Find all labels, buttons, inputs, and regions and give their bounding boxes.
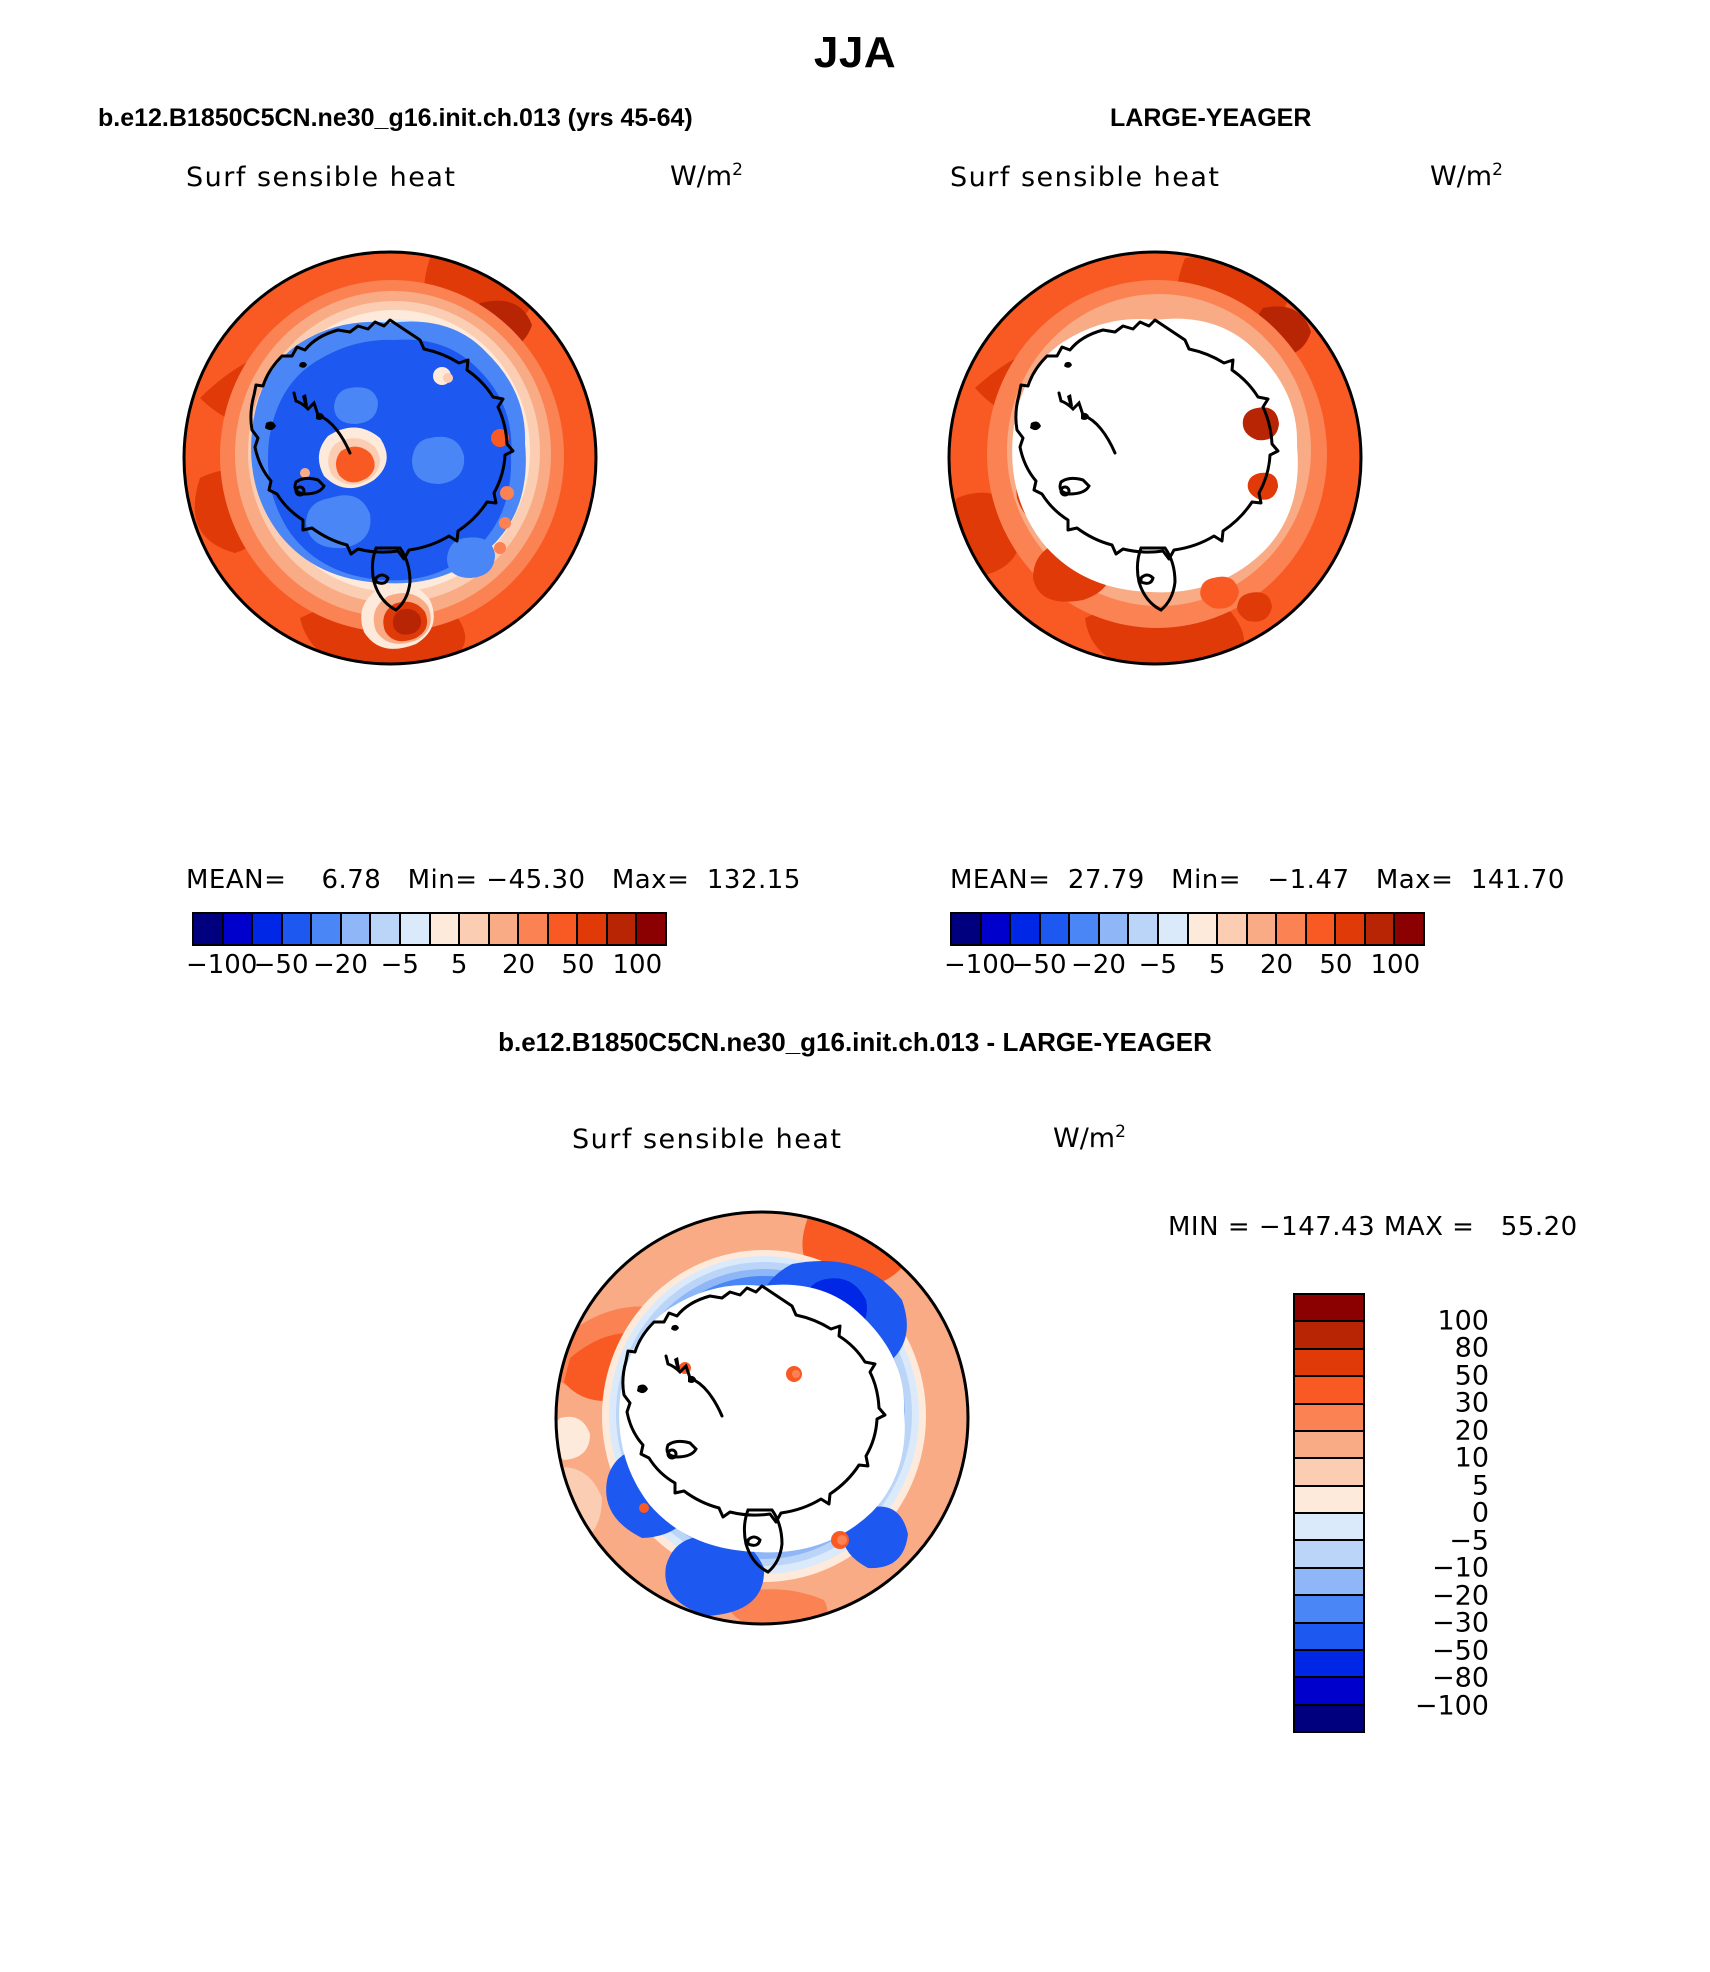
diff-colorbar-tick-label: −5 (1371, 1525, 1489, 1556)
left-panel-title: b.e12.B1850C5CN.ne30_g16.init.ch.013 (yr… (98, 104, 693, 133)
colorbar-cell-15 (637, 914, 665, 944)
diff-colorbar-cell-3 (1295, 1377, 1363, 1404)
diff-colorbar-tick-label: −10 (1371, 1553, 1489, 1584)
right-variable-label: Surf sensible heat (950, 162, 1221, 193)
colorbar-cell-6 (1129, 914, 1159, 944)
colorbar-tick-label: 50 (561, 950, 594, 980)
colorbar-tick-label: 20 (502, 950, 535, 980)
diff-colorbar-cell-12 (1295, 1624, 1363, 1651)
colorbar-cell-6 (371, 914, 401, 944)
colorbar-cell-2 (253, 914, 283, 944)
diff-colorbar-cell-5 (1295, 1432, 1363, 1459)
colorbar-tick-label: −50 (254, 950, 309, 980)
colorbar-tick-label: 5 (451, 950, 468, 980)
colorbar-cell-0 (194, 914, 224, 944)
colorbar-cell-8 (1189, 914, 1219, 944)
colorbar-tick-label: −20 (313, 950, 368, 980)
colorbar-cell-14 (1366, 914, 1396, 944)
season-title: JJA (0, 28, 1710, 78)
colorbar-cell-2 (1011, 914, 1041, 944)
diff-colorbar-tick-label: 50 (1371, 1360, 1489, 1391)
diff-colorbar-tick-label: 10 (1371, 1443, 1489, 1474)
left-colorbar-cells (192, 912, 667, 946)
diff-colorbar-cell-13 (1295, 1651, 1363, 1678)
diff-colorbar-cell-15 (1295, 1706, 1363, 1731)
colorbar-cell-3 (1041, 914, 1071, 944)
colorbar-tick-label: 20 (1260, 950, 1293, 980)
colorbar-tick-label: −5 (1139, 950, 1177, 980)
diff-colorbar-tick-label: 0 (1371, 1498, 1489, 1529)
colorbar-cell-4 (312, 914, 342, 944)
colorbar-cell-5 (1100, 914, 1130, 944)
colorbar-cell-12 (1307, 914, 1337, 944)
diff-colorbar-cell-6 (1295, 1459, 1363, 1486)
colorbar-cell-13 (578, 914, 608, 944)
diff-colorbar-tick-label: 20 (1371, 1415, 1489, 1446)
diff-colorbar-tick-label: −100 (1371, 1690, 1489, 1721)
diff-colorbar-ticks: 100805030201050−5−10−20−30−50−80−100 (1371, 1293, 1501, 1733)
diff-variable-label: Surf sensible heat (572, 1124, 843, 1155)
colorbar-cell-1 (982, 914, 1012, 944)
colorbar-cell-13 (1336, 914, 1366, 944)
colorbar-cell-7 (1159, 914, 1189, 944)
colorbar-cell-15 (1395, 914, 1423, 944)
diff-colorbar-cell-1 (1295, 1322, 1363, 1349)
diff-colorbar-cells (1293, 1293, 1365, 1733)
left-colorbar: −100−50−20−552050100 (192, 912, 667, 990)
diff-colorbar-tick-label: −80 (1371, 1663, 1489, 1694)
colorbar-tick-label: −5 (381, 950, 419, 980)
colorbar-tick-label: 100 (1370, 950, 1420, 980)
colorbar-tick-label: 5 (1209, 950, 1226, 980)
colorbar-cell-8 (431, 914, 461, 944)
colorbar-tick-label: −100 (944, 950, 1015, 980)
left-polar-map (180, 248, 600, 668)
diff-colorbar-cell-2 (1295, 1350, 1363, 1377)
diff-colorbar-cell-0 (1295, 1295, 1363, 1322)
colorbar-cell-12 (549, 914, 579, 944)
right-colorbar: −100−50−20−552050100 (950, 912, 1425, 990)
colorbar-cell-10 (1248, 914, 1278, 944)
diff-colorbar-cell-10 (1295, 1569, 1363, 1596)
right-unit-label: W/m2 (1430, 160, 1503, 192)
diff-colorbar-cell-7 (1295, 1487, 1363, 1514)
left-variable-label: Surf sensible heat (186, 162, 457, 193)
left-unit-label: W/m2 (670, 160, 743, 192)
colorbar-cell-10 (490, 914, 520, 944)
colorbar-cell-4 (1070, 914, 1100, 944)
diff-colorbar-cell-9 (1295, 1541, 1363, 1568)
diff-colorbar-tick-label: 80 (1371, 1333, 1489, 1364)
diff-polar-map (552, 1208, 972, 1628)
diff-colorbar-tick-label: 100 (1371, 1305, 1489, 1336)
diff-minmax-line: MIN = −147.43 MAX = 55.20 (1168, 1212, 1578, 1242)
colorbar-cell-11 (519, 914, 549, 944)
colorbar-tick-label: 50 (1319, 950, 1352, 980)
colorbar-cell-5 (342, 914, 372, 944)
colorbar-tick-label: −50 (1012, 950, 1067, 980)
colorbar-cell-1 (224, 914, 254, 944)
diff-colorbar-cell-8 (1295, 1514, 1363, 1541)
colorbar-tick-label: −20 (1071, 950, 1126, 980)
colorbar-cell-9 (460, 914, 490, 944)
left-stats-line: MEAN= 6.78 Min= −45.30 Max= 132.15 (186, 865, 801, 895)
diff-colorbar-tick-label: −50 (1371, 1635, 1489, 1666)
diff-colorbar-tick-label: −30 (1371, 1608, 1489, 1639)
diff-unit-label: W/m2 (1053, 1122, 1126, 1154)
colorbar-cell-0 (952, 914, 982, 944)
right-panel-title: LARGE-YEAGER (1110, 104, 1311, 133)
diff-colorbar-tick-label: 30 (1371, 1388, 1489, 1419)
right-colorbar-ticks: −100−50−20−552050100 (950, 950, 1425, 990)
diff-colorbar-cell-11 (1295, 1596, 1363, 1623)
colorbar-cell-11 (1277, 914, 1307, 944)
colorbar-cell-9 (1218, 914, 1248, 944)
right-colorbar-cells (950, 912, 1425, 946)
diff-colorbar-cell-14 (1295, 1678, 1363, 1705)
diff-panel-title: b.e12.B1850C5CN.ne30_g16.init.ch.013 - L… (0, 1027, 1710, 1058)
left-colorbar-ticks: −100−50−20−552050100 (192, 950, 667, 990)
colorbar-cell-3 (283, 914, 313, 944)
right-stats-line: MEAN= 27.79 Min= −1.47 Max= 141.70 (950, 865, 1565, 895)
colorbar-cell-7 (401, 914, 431, 944)
diff-colorbar-tick-label: 5 (1371, 1470, 1489, 1501)
colorbar-cell-14 (608, 914, 638, 944)
diff-colorbar-tick-label: −20 (1371, 1580, 1489, 1611)
right-polar-map (945, 248, 1365, 668)
colorbar-tick-label: 100 (612, 950, 662, 980)
colorbar-tick-label: −100 (186, 950, 257, 980)
diff-colorbar-cell-4 (1295, 1405, 1363, 1432)
